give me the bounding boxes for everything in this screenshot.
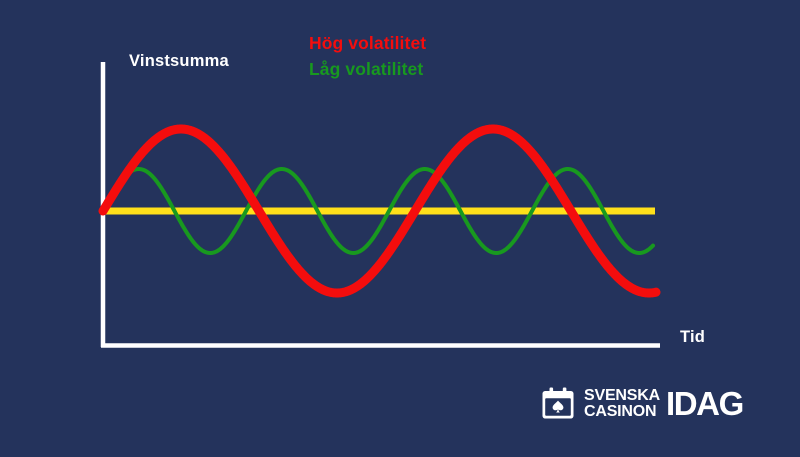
logo-line-2: CASINON [584,404,660,420]
logo-line-1: SVENSKA [584,388,660,404]
logo-svenska-casinon: SVENSKA CASINON [584,388,660,419]
legend-item-low-volatility: Låg volatilitet [309,59,423,80]
brand-logo: SVENSKA CASINON IDAG [541,387,743,420]
chart-canvas: Vinstsumma Tid Hög volatilitet Låg volat… [0,0,800,457]
calendar-spade-icon [541,387,575,420]
x-axis-title: Tid [680,328,705,347]
logo-idag: IDAG [666,387,743,420]
logo-wordmark: SVENSKA CASINON IDAG [584,387,743,420]
y-axis-title: Vinstsumma [129,52,229,71]
legend-item-high-volatility: Hög volatilitet [309,33,426,54]
